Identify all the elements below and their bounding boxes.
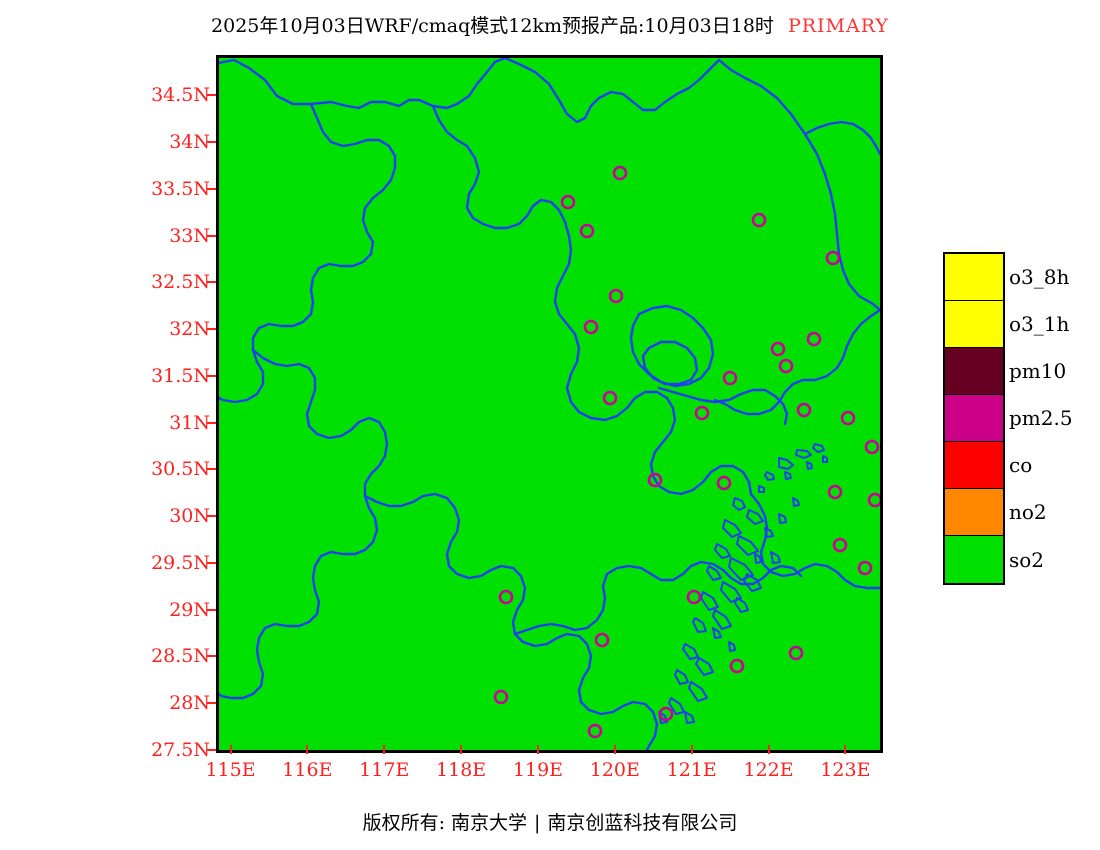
legend-item-label: o3_1h: [1009, 312, 1069, 336]
legend-item-label: co: [1009, 453, 1032, 477]
longitude-tick-label: 116E: [282, 759, 332, 781]
longitude-tick-label: 122E: [743, 759, 793, 781]
legend-item-label: so2: [1009, 548, 1044, 572]
legend-swatch-row[interactable]: co: [945, 442, 1003, 489]
legend-item-label: no2: [1009, 500, 1047, 524]
longitude-tick-mark: [306, 745, 308, 754]
footer-right-text: 南京创蓝科技有限公司: [547, 812, 737, 834]
forecast-map-page: 2025年10月03日WRF/cmaq模式12km预报产品:10月03日18时P…: [0, 0, 1100, 850]
legend-item-label: o3_8h: [1009, 265, 1069, 289]
legend-swatch-row[interactable]: so2: [945, 536, 1003, 583]
longitude-tick-label: 117E: [359, 759, 409, 781]
pollutant-legend[interactable]: o3_8ho3_1hpm10pm2.5cono2so2: [943, 252, 1005, 585]
legend-swatch-row[interactable]: no2: [945, 489, 1003, 536]
longitude-tick-label: 115E: [205, 759, 255, 781]
longitude-tick-label: 119E: [513, 759, 563, 781]
legend-swatch-row[interactable]: pm2.5: [945, 395, 1003, 442]
longitude-axis-labels: 115E116E117E118E119E120E121E122E123E: [0, 0, 1100, 850]
longitude-tick-mark: [537, 745, 539, 754]
longitude-tick-mark: [691, 745, 693, 754]
longitude-tick-mark: [460, 745, 462, 754]
legend-swatch-row[interactable]: o3_1h: [945, 301, 1003, 348]
copyright-footer: 版权所有: 南京大学|南京创蓝科技有限公司: [0, 808, 1100, 835]
longitude-tick-mark: [230, 745, 232, 754]
legend-swatch-row[interactable]: o3_8h: [945, 254, 1003, 301]
longitude-tick-label: 123E: [820, 759, 870, 781]
legend-item-label: pm2.5: [1009, 406, 1073, 430]
longitude-tick-mark: [614, 745, 616, 754]
footer-left-text: 版权所有: 南京大学: [363, 812, 527, 834]
longitude-tick-mark: [768, 745, 770, 754]
longitude-tick-label: 118E: [436, 759, 486, 781]
footer-separator: |: [534, 812, 540, 834]
longitude-tick-label: 120E: [590, 759, 640, 781]
longitude-tick-label: 121E: [667, 759, 717, 781]
legend-item-label: pm10: [1009, 359, 1066, 383]
longitude-tick-mark: [844, 745, 846, 754]
longitude-tick-mark: [383, 745, 385, 754]
legend-swatch-row[interactable]: pm10: [945, 348, 1003, 395]
